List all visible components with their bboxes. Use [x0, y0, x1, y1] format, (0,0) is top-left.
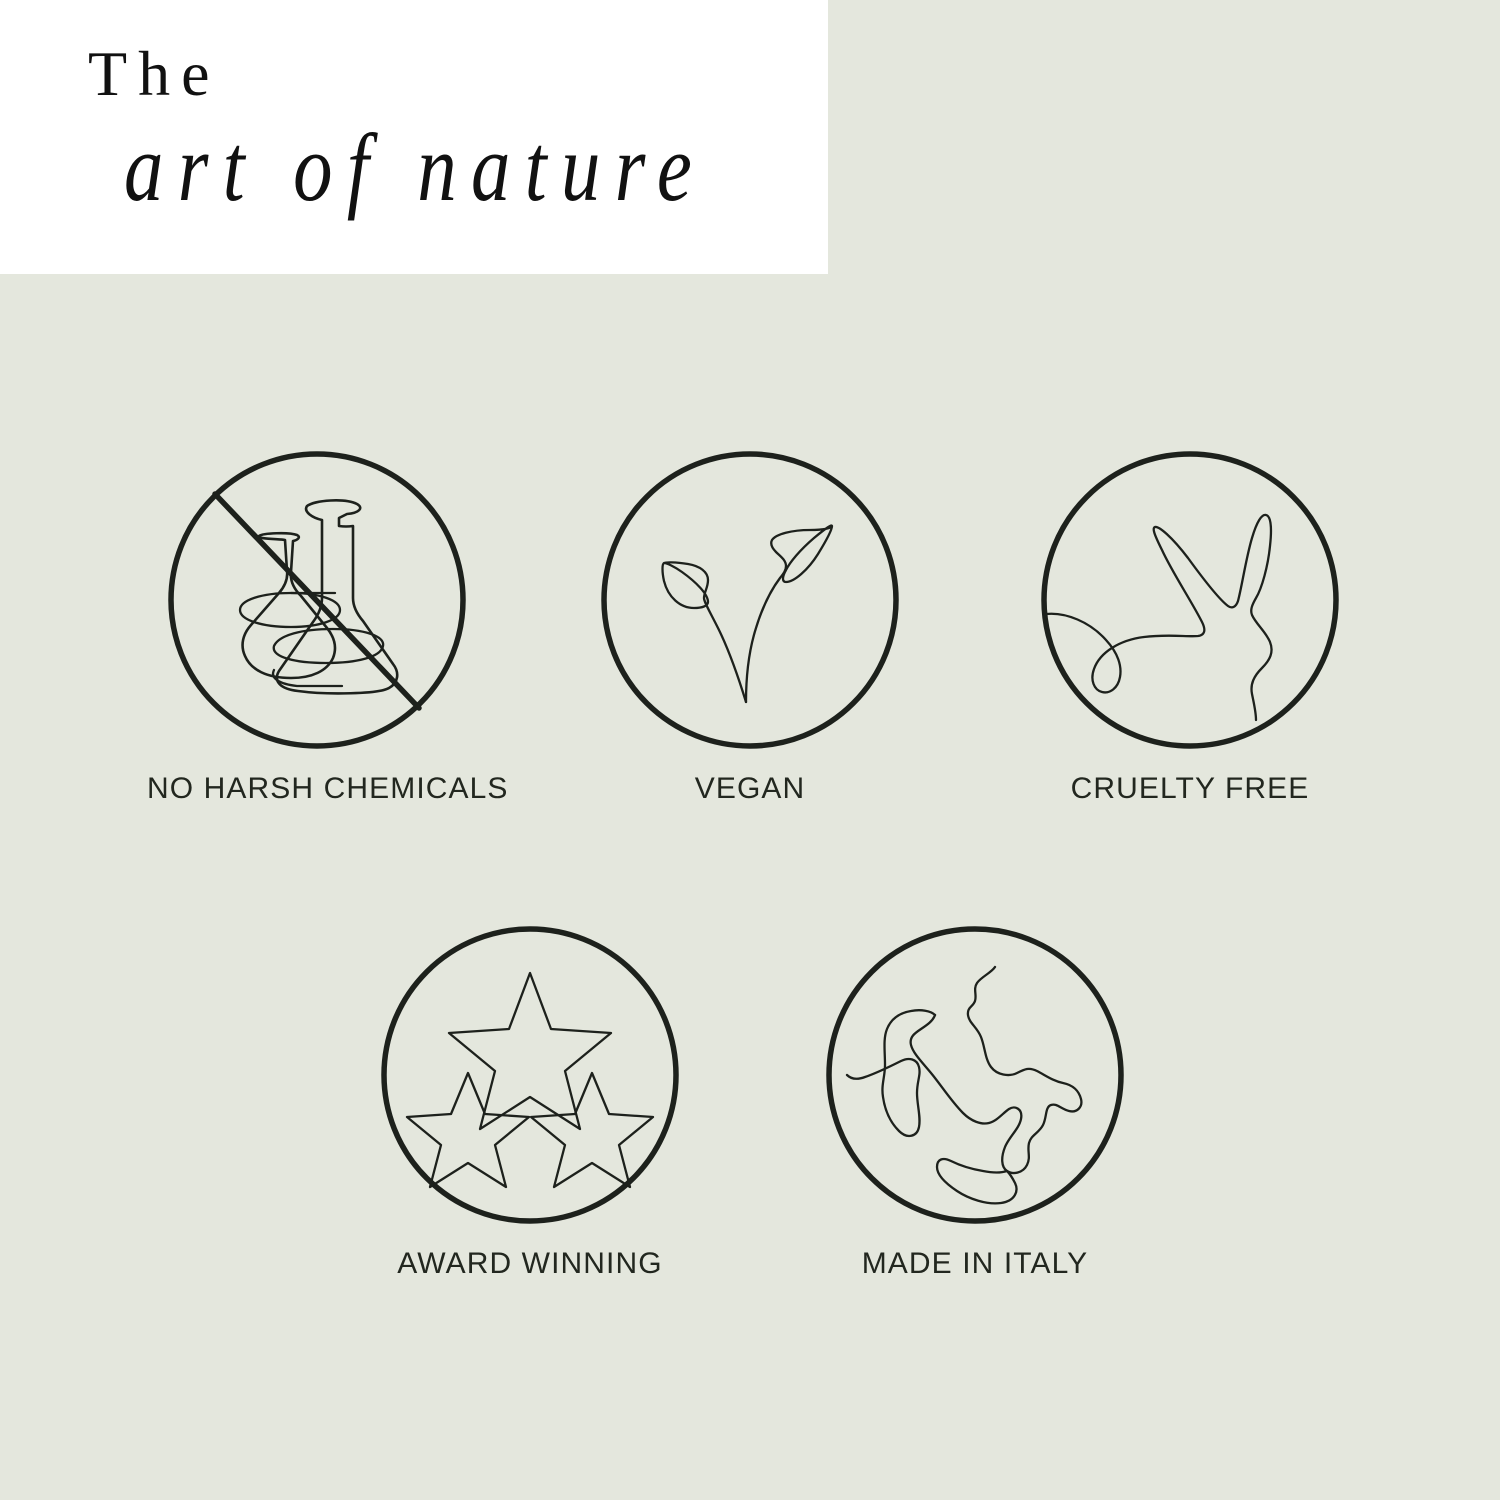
three-stars-icon: [380, 925, 680, 1225]
badge-label: VEGAN: [580, 772, 920, 806]
badge-label: CRUELTY FREE: [1020, 772, 1360, 806]
badge-label: MADE IN ITALY: [805, 1247, 1145, 1281]
badge-label: NO HARSH CHEMICALS: [147, 772, 487, 806]
page-title-line-1: The: [88, 42, 221, 106]
sprout-leaves-icon: [600, 450, 900, 750]
badge-made-in-italy[interactable]: MADE IN ITALY: [805, 925, 1145, 1281]
badge-no-harsh-chemicals[interactable]: NO HARSH CHEMICALS: [147, 450, 487, 806]
rabbit-icon: [1040, 450, 1340, 750]
title-card: The art of nature: [0, 0, 828, 274]
badge-cruelty-free[interactable]: CRUELTY FREE: [1020, 450, 1360, 806]
badge-label: AWARD WINNING: [360, 1247, 700, 1281]
page-title-line-2: art of nature: [124, 120, 706, 217]
italy-map-icon: [825, 925, 1125, 1225]
no-chemicals-icon: [167, 450, 467, 750]
badge-award-winning[interactable]: AWARD WINNING: [360, 925, 700, 1281]
badge-vegan[interactable]: VEGAN: [580, 450, 920, 806]
